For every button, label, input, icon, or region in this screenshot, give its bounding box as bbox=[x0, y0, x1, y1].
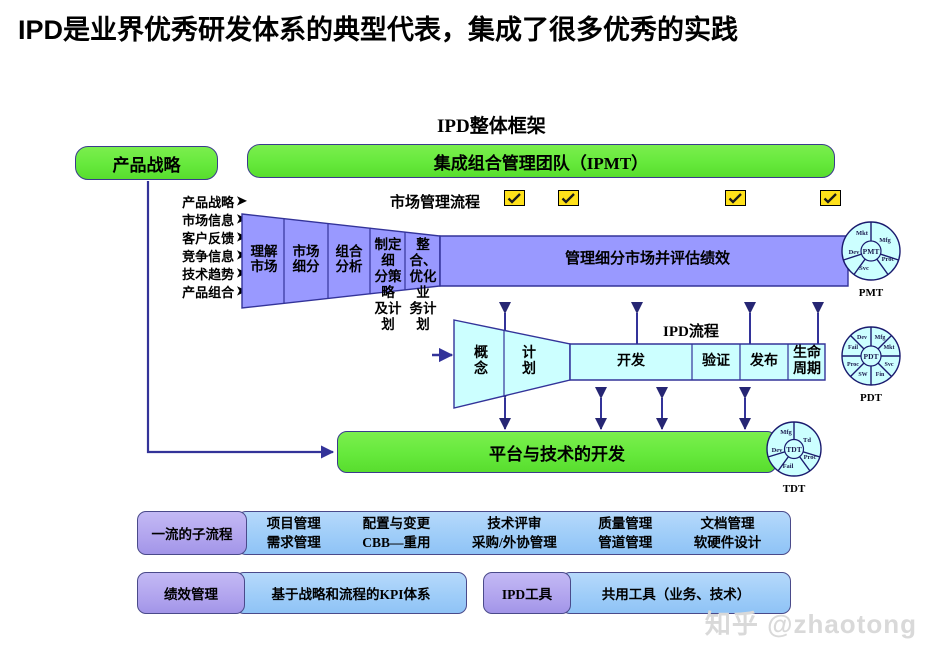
list-item: 产品战略➤ bbox=[155, 192, 247, 210]
arrow-right-icon: ➤ bbox=[236, 195, 247, 207]
subprocess-col-5[interactable]: 文档管理 软硬件设计 bbox=[694, 514, 762, 552]
svg-text:Svc: Svc bbox=[859, 265, 869, 272]
checkbox-2[interactable] bbox=[558, 190, 579, 206]
ipd-stage-6[interactable]: 生命 周期 bbox=[789, 346, 825, 378]
svg-text:Mfg: Mfg bbox=[780, 429, 792, 436]
svg-text:PMT: PMT bbox=[863, 247, 880, 256]
ipd-stage-2[interactable]: 计 划 bbox=[510, 346, 548, 378]
list-item: 客户反馈➤ bbox=[155, 228, 247, 246]
ipd-stage-5[interactable]: 发布 bbox=[741, 354, 787, 370]
svg-text:PDT: PDT bbox=[864, 352, 879, 361]
tools-key[interactable]: IPD工具 bbox=[483, 572, 571, 614]
svg-text:SW: SW bbox=[858, 372, 867, 378]
ipd-stage-3[interactable]: 开发 bbox=[572, 354, 690, 370]
pmt-team-wheel[interactable]: PMT Mkt Mfg Proc Svc Dev PMT bbox=[840, 220, 902, 299]
subprocess-col-1[interactable]: 项目管理 需求管理 bbox=[267, 514, 321, 552]
market-management-process-label: 市场管理流程 bbox=[390, 191, 480, 212]
svg-text:Proc: Proc bbox=[882, 256, 895, 263]
cell: 项目管理 bbox=[267, 514, 321, 533]
kpi-row: 绩效管理 基于战略和流程的KPI体系 bbox=[137, 572, 467, 614]
svg-text:Proc: Proc bbox=[847, 362, 859, 368]
kpi-value[interactable]: 基于战略和流程的KPI体系 bbox=[235, 572, 467, 614]
cell: 文档管理 bbox=[694, 514, 762, 533]
svg-text:Mkt: Mkt bbox=[884, 345, 895, 351]
input-label: 技术趋势 bbox=[182, 264, 234, 283]
mm-outcome[interactable]: 管理细分市场并评估绩效 bbox=[450, 252, 845, 267]
svg-text:Dev: Dev bbox=[772, 447, 784, 454]
cell: 需求管理 bbox=[267, 533, 321, 552]
list-item: 竞争信息➤ bbox=[155, 246, 247, 264]
input-label: 产品战略 bbox=[182, 192, 234, 211]
list-item: 市场信息➤ bbox=[155, 210, 247, 228]
mm-inputs-list: 产品战略➤ 市场信息➤ 客户反馈➤ 竞争信息➤ 技术趋势➤ 产品组合➤ bbox=[155, 192, 247, 300]
input-label: 市场信息 bbox=[182, 210, 234, 229]
subprocess-col-3[interactable]: 技术评审 采购/外协管理 bbox=[472, 514, 557, 552]
svg-text:Mkt: Mkt bbox=[856, 230, 869, 237]
cell: 配置与变更 bbox=[362, 514, 430, 533]
checkbox-1[interactable] bbox=[504, 190, 525, 206]
input-label: 产品组合 bbox=[182, 282, 234, 301]
svg-text:Fin: Fin bbox=[876, 372, 885, 378]
kpi-key[interactable]: 绩效管理 bbox=[137, 572, 245, 614]
subprocess-row: 一流的子流程 项目管理 需求管理 配置与变更 CBB—重用 技术评审 采购/外协… bbox=[137, 511, 791, 555]
product-strategy-box[interactable]: 产品战略 bbox=[75, 146, 218, 180]
svg-text:Dev: Dev bbox=[849, 249, 861, 256]
list-item: 产品组合➤ bbox=[155, 282, 247, 300]
svg-text:Mfg: Mfg bbox=[879, 237, 891, 244]
ipd-process-funnel: 概 念 计 划 开发 验证 发布 生命 周期 bbox=[452, 318, 827, 410]
cell: 技术评审 bbox=[472, 514, 557, 533]
subprocess-values: 项目管理 需求管理 配置与变更 CBB—重用 技术评审 采购/外协管理 质量管理… bbox=[237, 511, 791, 555]
subprocess-col-4[interactable]: 质量管理 管道管理 bbox=[598, 514, 652, 552]
input-label: 竞争信息 bbox=[182, 246, 234, 265]
cell: 采购/外协管理 bbox=[472, 533, 557, 552]
checkbox-4[interactable] bbox=[820, 190, 841, 206]
mm-stage-5[interactable]: 整合、 优化业 务计划 bbox=[406, 237, 440, 333]
pdt-caption: PDT bbox=[840, 392, 902, 404]
tdt-caption: TDT bbox=[765, 483, 823, 495]
subprocess-key[interactable]: 一流的子流程 bbox=[137, 511, 247, 555]
subprocess-col-2[interactable]: 配置与变更 CBB—重用 bbox=[362, 514, 430, 552]
mm-stage-1[interactable]: 理解 市场 bbox=[244, 244, 284, 274]
cell: 质量管理 bbox=[598, 514, 652, 533]
svg-text:Mfg: Mfg bbox=[875, 335, 886, 341]
mm-stage-4[interactable]: 制定细 分策略 及计划 bbox=[371, 237, 405, 333]
mm-stage-3[interactable]: 组合 分析 bbox=[330, 244, 368, 274]
ipd-stage-4[interactable]: 验证 bbox=[693, 354, 739, 370]
input-label: 客户反馈 bbox=[182, 228, 234, 247]
svg-text:TDT: TDT bbox=[786, 445, 801, 454]
svg-text:Td: Td bbox=[803, 437, 811, 444]
cell: 管道管理 bbox=[598, 533, 652, 552]
checkbox-3[interactable] bbox=[725, 190, 746, 206]
svg-text:Dev: Dev bbox=[857, 335, 867, 341]
framework-title: IPD整体框架 bbox=[437, 111, 546, 138]
ipmt-box[interactable]: 集成组合管理团队（IPMT） bbox=[247, 144, 835, 178]
mm-stage-2[interactable]: 市场 细分 bbox=[286, 244, 326, 274]
market-management-funnel: 理解 市场 市场 细分 组合 分析 制定细 分策略 及计划 整合、 优化业 务计… bbox=[240, 212, 850, 310]
cell: CBB—重用 bbox=[362, 533, 430, 552]
svg-text:Proc: Proc bbox=[804, 454, 817, 461]
tdt-team-wheel[interactable]: TDT Mfg Td Proc Fail Dev TDT bbox=[765, 420, 823, 495]
cell: 软硬件设计 bbox=[694, 533, 762, 552]
svg-text:Svc: Svc bbox=[885, 362, 894, 368]
page-title: IPD是业界优秀研发体系的典型代表，集成了很多优秀的实践 bbox=[18, 8, 908, 47]
pmt-caption: PMT bbox=[840, 287, 902, 299]
svg-text:Fail: Fail bbox=[848, 345, 858, 351]
svg-text:Fail: Fail bbox=[783, 463, 794, 470]
pdt-team-wheel[interactable]: PDT Dev Mfg Mkt Svc Fin SW Proc Fail PDT bbox=[840, 325, 902, 404]
watermark: 知乎 @zhaotong bbox=[705, 604, 917, 641]
ipd-stage-1[interactable]: 概 念 bbox=[462, 346, 500, 378]
platform-development-box[interactable]: 平台与技术的开发 bbox=[337, 431, 777, 473]
list-item: 技术趋势➤ bbox=[155, 264, 247, 282]
